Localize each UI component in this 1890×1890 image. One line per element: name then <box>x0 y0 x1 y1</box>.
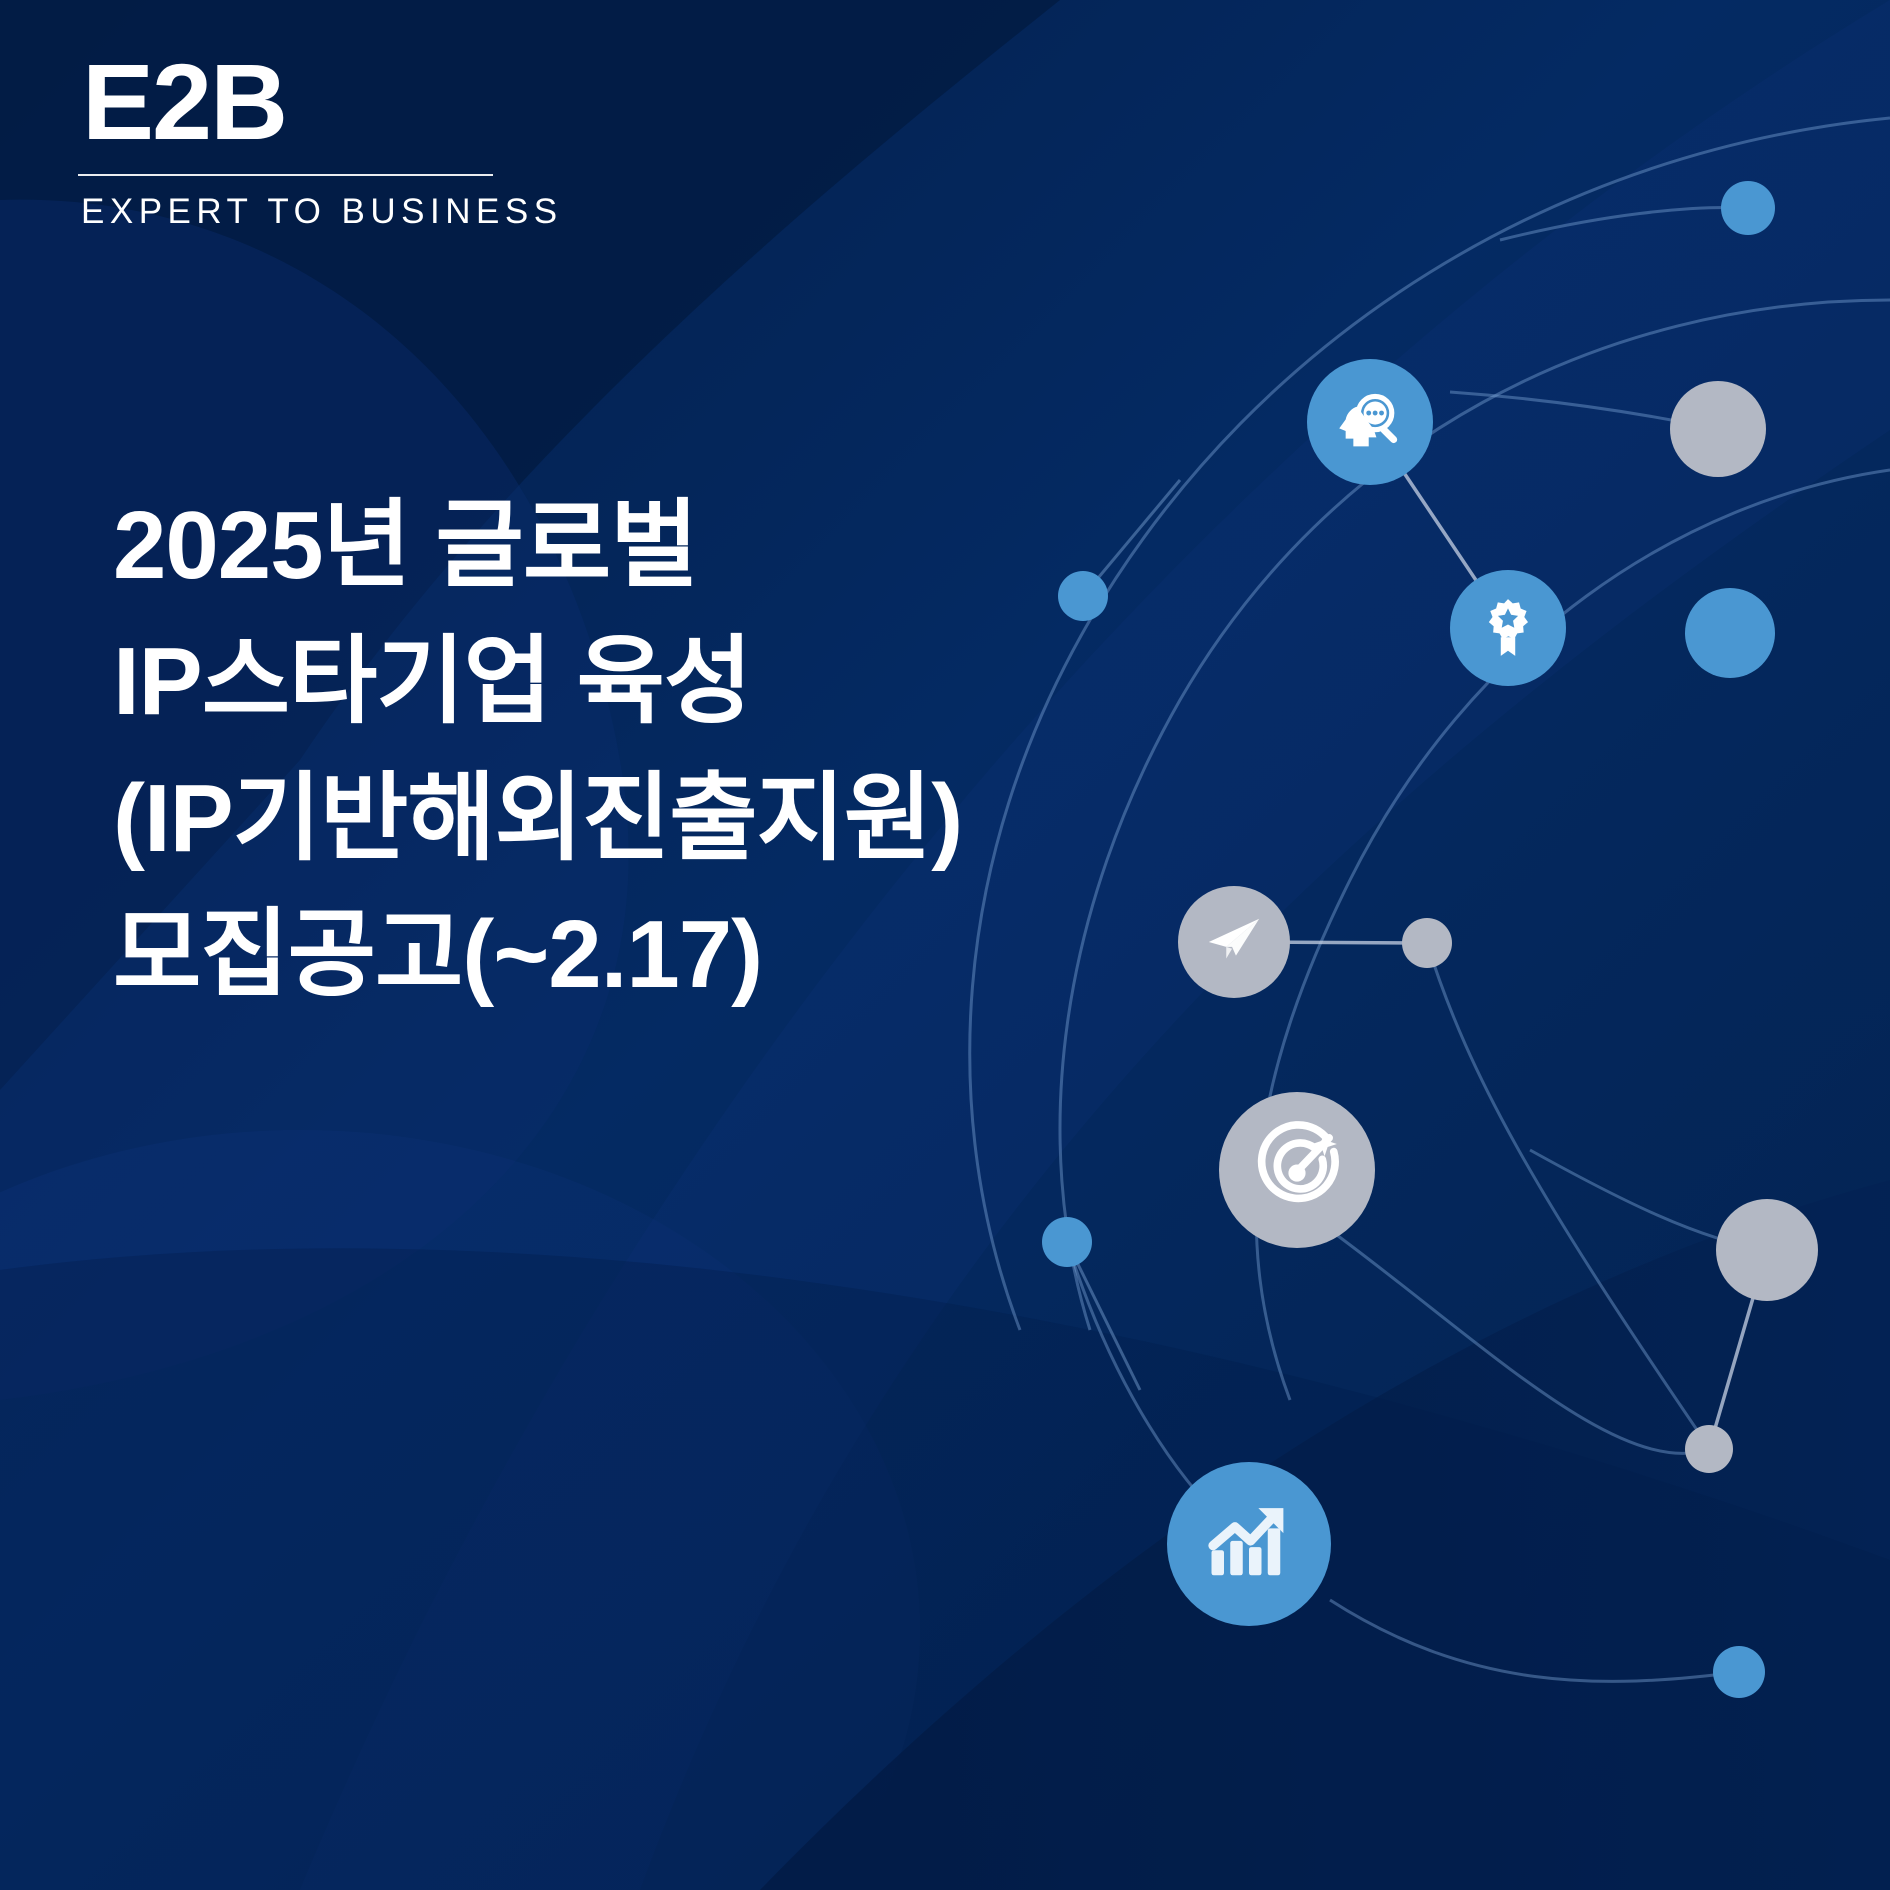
dot-blue-bottom-right <box>1713 1646 1765 1698</box>
dot-blue-mid-right <box>1685 588 1775 678</box>
award-medal-glyph <box>1475 595 1541 661</box>
head-search-glyph <box>1329 381 1411 463</box>
dot-gray-center <box>1402 918 1452 968</box>
head-search-icon[interactable] <box>1307 359 1433 485</box>
brand-logo: E2B EXPERT TO BUSINESS <box>78 48 578 232</box>
logo-wordmark: E2B <box>78 48 578 156</box>
headline-line-3: (IP기반해외진출지원) <box>113 751 1143 887</box>
poster-canvas: E2B EXPERT TO BUSINESS 2025년 글로벌 IP스타기업 … <box>0 0 1890 1890</box>
headline-line-4: 모집공고(~2.17) <box>113 887 1143 1023</box>
growth-chart-icon[interactable] <box>1167 1462 1331 1626</box>
dot-gray-small-lower <box>1685 1425 1733 1473</box>
growth-chart-glyph <box>1199 1494 1299 1594</box>
headline-block: 2025년 글로벌 IP스타기업 육성 (IP기반해외진출지원) 모집공고(~2… <box>113 478 1143 1023</box>
headline-line-2: IP스타기업 육성 <box>113 614 1143 750</box>
target-bullseye-glyph <box>1248 1121 1346 1219</box>
dot-blue-lower-left <box>1042 1217 1092 1267</box>
dot-blue-left-mid <box>1058 571 1108 621</box>
headline-line-1: 2025년 글로벌 <box>113 478 1143 614</box>
target-bullseye-icon[interactable] <box>1219 1092 1375 1248</box>
paper-plane-icon[interactable] <box>1178 886 1290 998</box>
logo-divider <box>78 174 493 176</box>
paper-plane-glyph <box>1203 911 1265 973</box>
dot-blue-top-right <box>1721 181 1775 235</box>
dot-gray-upper-right <box>1670 381 1766 477</box>
logo-tagline: EXPERT TO BUSINESS <box>78 192 578 232</box>
dot-gray-lower-right <box>1716 1199 1818 1301</box>
award-medal-icon[interactable] <box>1450 570 1566 686</box>
